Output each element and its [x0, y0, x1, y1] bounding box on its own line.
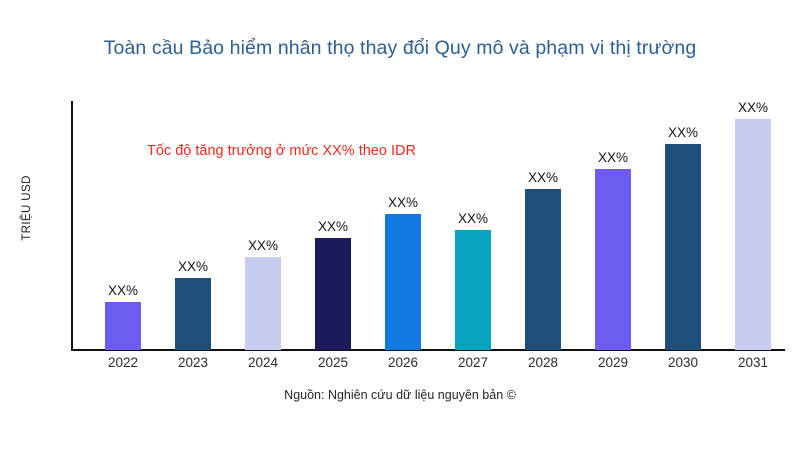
bar-value-label: XX% [443, 211, 503, 226]
plot-area: XX%XX%XX%XX%XX%XX%XX%XX%XX%XX% [71, 101, 785, 351]
x-tick-label: 2027 [443, 355, 503, 370]
x-tick-label: 2022 [93, 355, 153, 370]
y-axis-title: TRIỆU USD [21, 148, 33, 268]
x-tick-label: 2026 [373, 355, 433, 370]
bar[interactable] [245, 257, 281, 350]
bar[interactable] [105, 302, 141, 350]
x-tick-label: 2023 [163, 355, 223, 370]
growth-rate-annotation: Tốc độ tăng trưởng ở mức XX% theo IDR [147, 143, 416, 159]
x-tick-label: 2029 [583, 355, 643, 370]
bars-layer: XX%XX%XX%XX%XX%XX%XX%XX%XX%XX% [71, 101, 785, 350]
bar[interactable] [455, 230, 491, 350]
bar-value-label: XX% [93, 283, 153, 298]
chart-container: Toàn cầu Bảo hiểm nhân thọ thay đổi Quy … [0, 0, 800, 450]
bar-value-label: XX% [233, 238, 293, 253]
source-note: Nguồn: Nghiên cứu dữ liệu nguyên bản © [0, 388, 800, 402]
bar-value-label: XX% [513, 170, 573, 185]
x-tick-label: 2024 [233, 355, 293, 370]
bar-value-label: XX% [653, 125, 713, 140]
bar[interactable] [315, 238, 351, 350]
bar-value-label: XX% [723, 100, 783, 115]
bar-value-label: XX% [303, 219, 363, 234]
bar-value-label: XX% [163, 259, 223, 274]
bar-value-label: XX% [583, 150, 643, 165]
bar-value-label: XX% [373, 195, 433, 210]
bar[interactable] [595, 169, 631, 350]
bar[interactable] [735, 119, 771, 350]
bar[interactable] [385, 214, 421, 350]
bar[interactable] [665, 144, 701, 350]
chart-title: Toàn cầu Bảo hiểm nhân thọ thay đổi Quy … [0, 37, 800, 60]
bar[interactable] [175, 278, 211, 350]
bar[interactable] [525, 189, 561, 350]
x-tick-label: 2025 [303, 355, 363, 370]
x-tick-label: 2031 [723, 355, 783, 370]
x-axis-tick-labels: 2022202320242025202620272028202920302031 [71, 355, 785, 379]
x-tick-label: 2028 [513, 355, 573, 370]
x-tick-label: 2030 [653, 355, 713, 370]
